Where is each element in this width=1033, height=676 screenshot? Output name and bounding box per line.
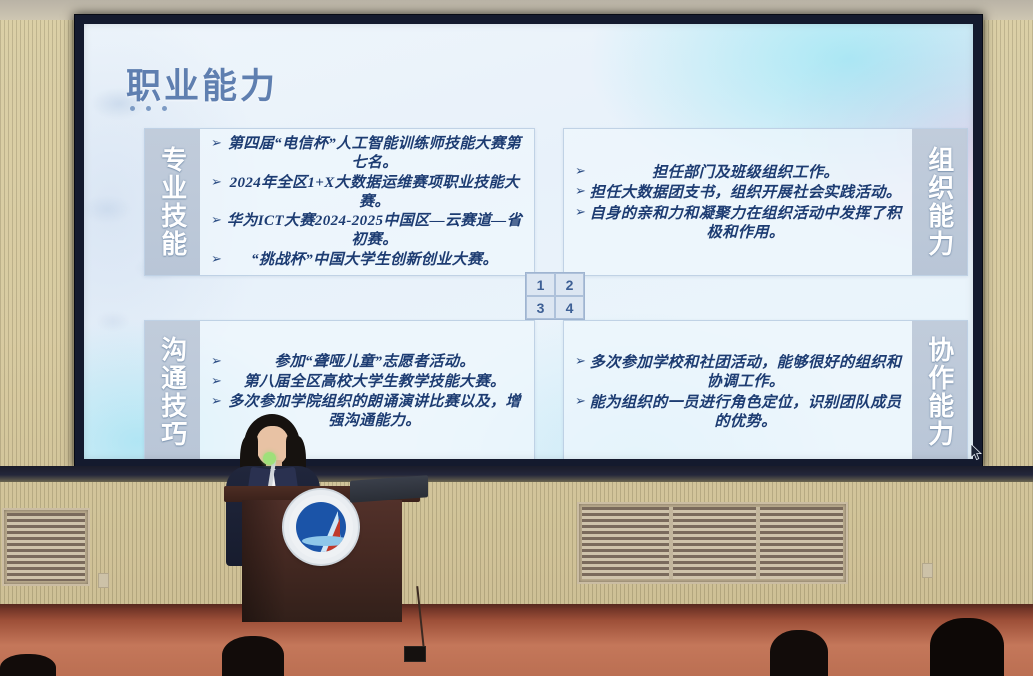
- page-title: 职业能力: [126, 58, 278, 109]
- quadrant-label-text: 协作能力: [926, 336, 953, 448]
- list-item-text: “挑战杯”中国大学生创新创业大赛。: [225, 251, 524, 270]
- projection-screen: 职业能力 专业技能 ➢ 第四届“电信杯”人工智能训练师技能大赛第七名。 ➢: [74, 14, 983, 469]
- list-item: ➢ 2024年全区1+X大数据运维赛项职业技能大赛。: [208, 174, 524, 212]
- quadrant-label-band: 组织能力: [912, 129, 967, 275]
- bullet-arrow-icon: ➢: [572, 183, 589, 202]
- bullet-arrow-icon: ➢: [572, 393, 589, 412]
- quadrant-card-collaboration-ability: 协作能力 ➢ 多次参加学校和社团活动，能够很好的组织和协调工作。 ➢ 能为组织的…: [563, 320, 968, 459]
- bullet-arrow-icon: ➢: [208, 174, 225, 193]
- quadrant-label-text: 沟通技巧: [159, 336, 186, 448]
- bullet-arrow-icon: ➢: [208, 251, 225, 270]
- wall-vent-right: [577, 502, 848, 584]
- emblem-wave-icon: [302, 536, 346, 546]
- list-item-text: 多次参加学校和社团活动，能够很好的组织和协调工作。: [589, 353, 902, 391]
- emblem-inner-disc: [296, 502, 346, 552]
- lecture-hall-scene: 职业能力 专业技能 ➢ 第四届“电信杯”人工智能训练师技能大赛第七名。 ➢: [0, 0, 1033, 676]
- wall-outlet: [98, 573, 109, 588]
- list-item-text: 2024年全区1+X大数据运维赛项职业技能大赛。: [225, 174, 524, 212]
- quadrant-bullet-list: ➢ 多次参加学校和社团活动，能够很好的组织和协调工作。 ➢ 能为组织的一员进行角…: [564, 321, 912, 459]
- screen-lower-shadow: [0, 466, 1033, 482]
- list-item: ➢ 多次参加学校和社团活动，能够很好的组织和协调工作。: [572, 353, 902, 391]
- list-item: ➢ 能为组织的一员进行角色定位，识别团队成员的优势。: [572, 393, 902, 431]
- list-item: ➢ 第八届全区高校大学生教学技能大赛。: [208, 373, 524, 392]
- grid-cell-4: 4: [555, 296, 584, 319]
- grid-cell-2: 2: [555, 273, 584, 296]
- bullet-arrow-icon: ➢: [208, 135, 225, 154]
- quadrant-bullet-list: ➢ 第四届“电信杯”人工智能训练师技能大赛第七名。 ➢ 2024年全区1+X大数…: [200, 129, 534, 275]
- list-item: ➢ 参加“聋哑儿童”志愿者活动。: [208, 353, 524, 372]
- quadrant-card-professional-skills: 专业技能 ➢ 第四届“电信杯”人工智能训练师技能大赛第七名。 ➢ 2024年全区…: [144, 128, 535, 276]
- grid-cell-1: 1: [526, 273, 555, 296]
- quadrant-card-organization-ability: 组织能力 ➢ 担任部门及班级组织工作。 ➢ 担任大数据团支书，组织开展社会实践活…: [563, 128, 968, 276]
- title-dot-icon: [146, 106, 151, 111]
- bullet-arrow-icon: ➢: [572, 163, 589, 182]
- grid-cell-3: 3: [526, 296, 555, 319]
- list-item-text: 华为ICT大赛2024-2025中国区—云赛道—省初赛。: [225, 212, 524, 250]
- quadrant-card-communication-skills: 沟通技巧 ➢ 参加“聋哑儿童”志愿者活动。 ➢ 第八届全区高校大学生教学技能大赛…: [144, 320, 535, 459]
- quadrant-number-grid: 1 2 3 4: [525, 272, 585, 320]
- quadrant-bullet-list: ➢ 担任部门及班级组织工作。 ➢ 担任大数据团支书，组织开展社会实践活动。 ➢ …: [564, 129, 912, 275]
- mouse-pointer-icon: [971, 444, 984, 462]
- quadrant-label-text: 专业技能: [159, 146, 186, 258]
- vent-divider: [669, 507, 673, 579]
- title-dot-icon: [162, 106, 167, 111]
- bullet-arrow-icon: ➢: [572, 353, 589, 372]
- title-dot-icon: [130, 106, 135, 111]
- quadrant-label-band: 专业技能: [145, 129, 200, 275]
- list-item: ➢ 华为ICT大赛2024-2025中国区—云赛道—省初赛。: [208, 212, 524, 250]
- speaking-podium: [224, 486, 420, 621]
- vent-slats: [7, 513, 85, 581]
- wall-outlet: [922, 563, 933, 578]
- microphone-head-icon: [263, 452, 276, 465]
- quadrant-label-band: 沟通技巧: [145, 321, 200, 459]
- bullet-arrow-icon: ➢: [208, 212, 225, 231]
- list-item-text: 第八届全区高校大学生教学技能大赛。: [225, 373, 524, 392]
- bullet-arrow-icon: ➢: [572, 204, 589, 223]
- title-dots-decoration: [130, 106, 167, 111]
- stage-floor: [0, 608, 1033, 676]
- vent-divider: [756, 507, 760, 579]
- quadrant-label-band: 协作能力: [912, 321, 967, 459]
- audience-head: [770, 630, 828, 676]
- audience-head: [930, 618, 1004, 676]
- list-item: ➢ 担任部门及班级组织工作。: [572, 163, 902, 182]
- audience-head: [222, 636, 284, 676]
- podium-shadow: [242, 500, 286, 622]
- floor-equipment-box: [404, 646, 426, 662]
- list-item-text: 第四届“电信杯”人工智能训练师技能大赛第七名。: [225, 135, 524, 173]
- presentation-slide: 职业能力 专业技能 ➢ 第四届“电信杯”人工智能训练师技能大赛第七名。 ➢: [84, 24, 973, 459]
- list-item: ➢ 第四届“电信杯”人工智能训练师技能大赛第七名。: [208, 135, 524, 173]
- list-item-text: 担任大数据团支书，组织开展社会实践活动。: [589, 183, 902, 202]
- bullet-arrow-icon: ➢: [208, 393, 225, 412]
- list-item: ➢ 担任大数据团支书，组织开展社会实践活动。: [572, 183, 902, 202]
- list-item: ➢ 自身的亲和力和凝聚力在组织活动中发挥了积极和作用。: [572, 204, 902, 242]
- list-item-text: 担任部门及班级组织工作。: [589, 163, 902, 182]
- list-item-text: 参加“聋哑儿童”志愿者活动。: [225, 353, 524, 372]
- bullet-arrow-icon: ➢: [208, 373, 225, 392]
- list-item-text: 能为组织的一员进行角色定位，识别团队成员的优势。: [589, 393, 902, 431]
- bullet-arrow-icon: ➢: [208, 353, 225, 372]
- vent-slats: [582, 507, 843, 579]
- list-item: ➢ “挑战杯”中国大学生创新创业大赛。: [208, 251, 524, 270]
- audience-head: [0, 654, 56, 676]
- quadrant-label-text: 组织能力: [926, 146, 953, 258]
- institution-emblem: [284, 490, 358, 564]
- wall-vent-left: [2, 508, 90, 586]
- list-item-text: 自身的亲和力和凝聚力在组织活动中发挥了积极和作用。: [589, 204, 902, 242]
